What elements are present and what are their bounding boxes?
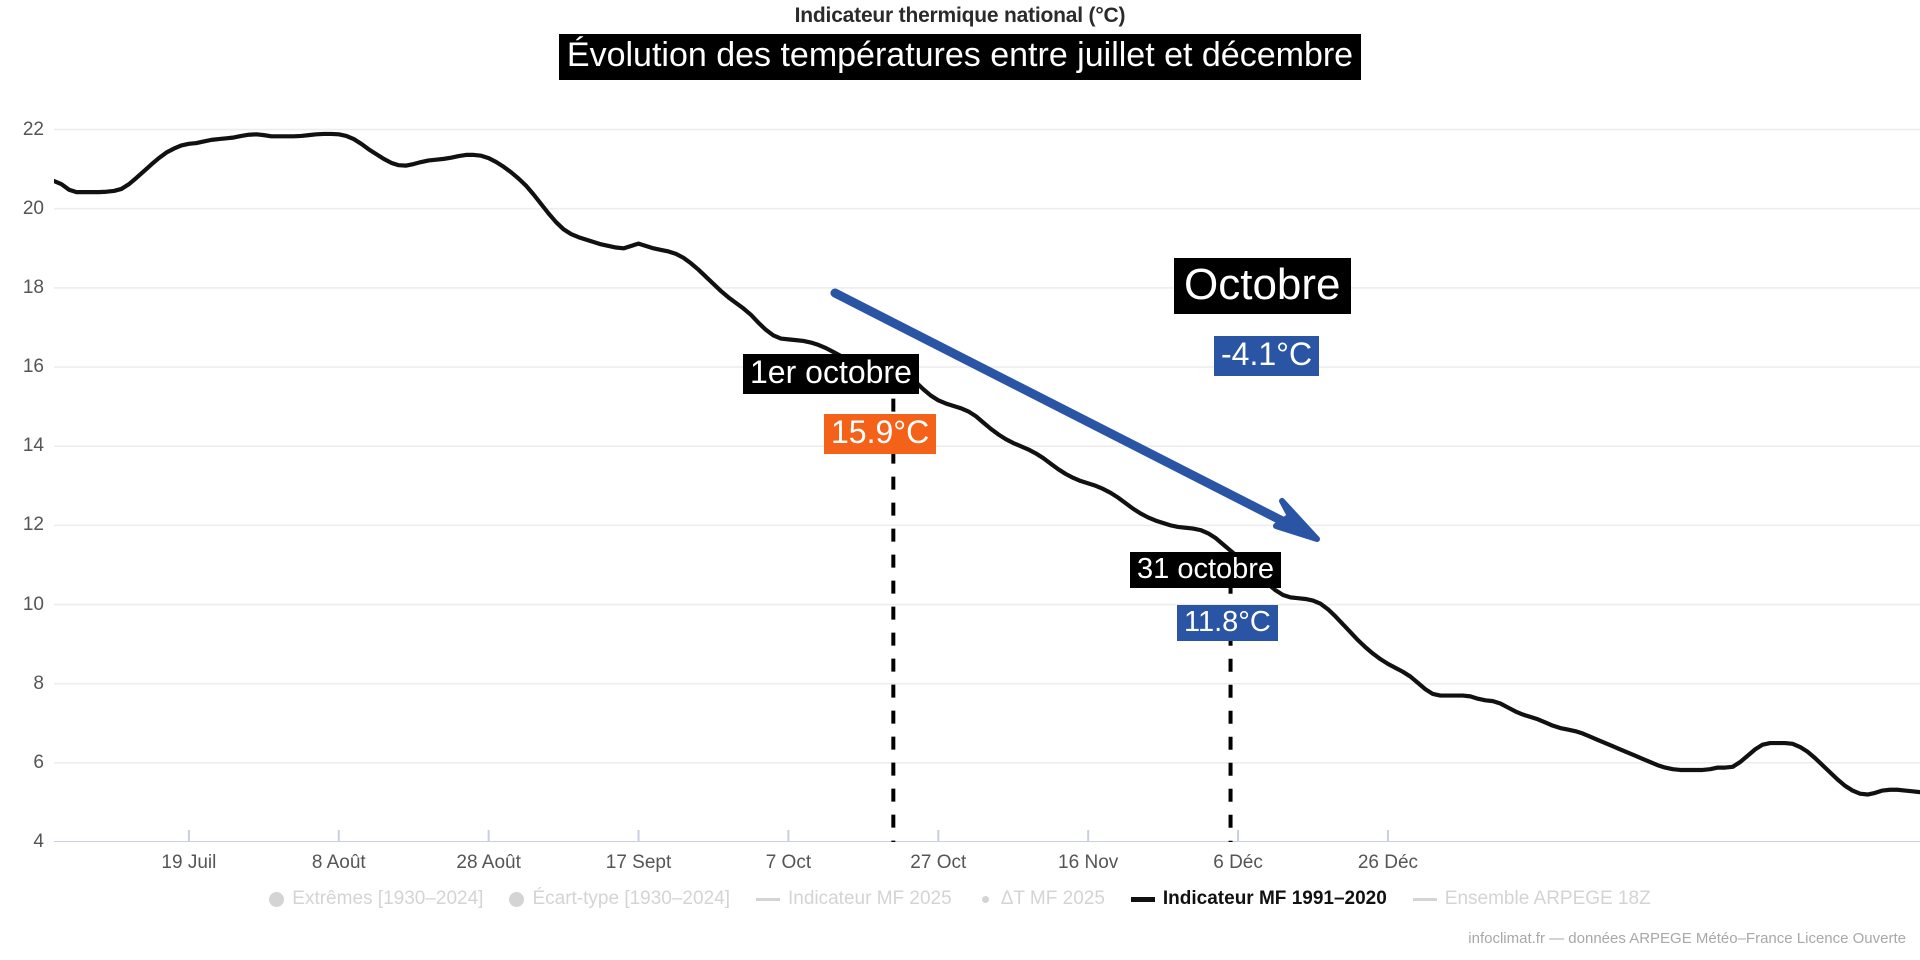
legend-line-icon [1413,898,1437,901]
y-axis-tick-label: 8 [4,673,44,695]
x-axis-tick-label: 6 Déc [1213,852,1263,874]
y-axis-tick-label: 6 [4,752,44,774]
x-axis-tick-label: 8 Août [312,852,366,874]
legend-item-label: Indicateur MF 2025 [788,888,952,910]
y-axis-tick-label: 22 [4,119,44,141]
x-axis-tick-label: 19 Juil [161,852,216,874]
trend-arrow-head [1276,501,1317,539]
x-axis-tick-label: 7 Oct [766,852,811,874]
legend-item[interactable]: Extrêmes [1930–2024] [269,888,483,910]
x-axis-tick-label: 28 Août [456,852,520,874]
x-axis-tick-label: 16 Nov [1058,852,1118,874]
annotation-octobre-value: -4.1°C [1214,336,1319,376]
legend-item-label: Écart-type [1930–2024] [532,888,730,910]
annotation-1er-octobre-value: 15.9°C [824,414,936,454]
legend-dot-icon [269,892,284,907]
legend-item-label: Ensemble ARPEGE 18Z [1445,888,1651,910]
legend-item-label: Extrêmes [1930–2024] [292,888,483,910]
gridlines [54,130,1920,842]
y-axis-tick-label: 16 [4,356,44,378]
x-axis-ticks [189,830,1388,842]
annotation-31-octobre-value: 11.8°C [1177,605,1278,641]
y-axis-tick-label: 12 [4,514,44,536]
annotation-31-octobre-label: 31 octobre [1130,552,1281,588]
chart-root: Indicateur thermique national (°C) Évolu… [0,0,1920,960]
series-line-indicateur-mf-1991-2020 [54,134,1920,795]
y-axis-tick-label: 14 [4,435,44,457]
legend-small-dot-icon [982,896,989,903]
legend-line-icon [756,898,780,901]
legend-item[interactable]: Indicateur MF 1991–2020 [1131,888,1387,910]
x-axis-tick-label: 17 Sept [606,852,672,874]
legend-line-icon [1131,897,1155,902]
chart-svg [54,90,1920,842]
legend-item[interactable]: Indicateur MF 2025 [756,888,952,910]
annotation-1er-octobre-label: 1er octobre [743,354,919,394]
chart-legend: Extrêmes [1930–2024]Écart-type [1930–202… [0,888,1920,910]
legend-item[interactable]: ΔT MF 2025 [978,888,1105,910]
trend-arrow-shaft [835,293,1302,531]
legend-item[interactable]: Écart-type [1930–2024] [509,888,730,910]
annotation-octobre-label: Octobre [1174,258,1351,314]
plot-area [54,90,1920,842]
legend-item-label: Indicateur MF 1991–2020 [1163,888,1387,910]
y-axis-tick-label: 4 [4,831,44,853]
legend-item[interactable]: Ensemble ARPEGE 18Z [1413,888,1651,910]
y-axis-tick-label: 10 [4,594,44,616]
y-axis-tick-label: 18 [4,277,44,299]
legend-item-label: ΔT MF 2025 [1001,888,1105,910]
footer-credit: infoclimat.fr — données ARPEGE Météo–Fra… [1468,930,1906,947]
x-axis-tick-label: 27 Oct [910,852,966,874]
x-axis-tick-label: 26 Déc [1358,852,1418,874]
y-axis-tick-label: 20 [4,198,44,220]
legend-dot-icon [509,892,524,907]
